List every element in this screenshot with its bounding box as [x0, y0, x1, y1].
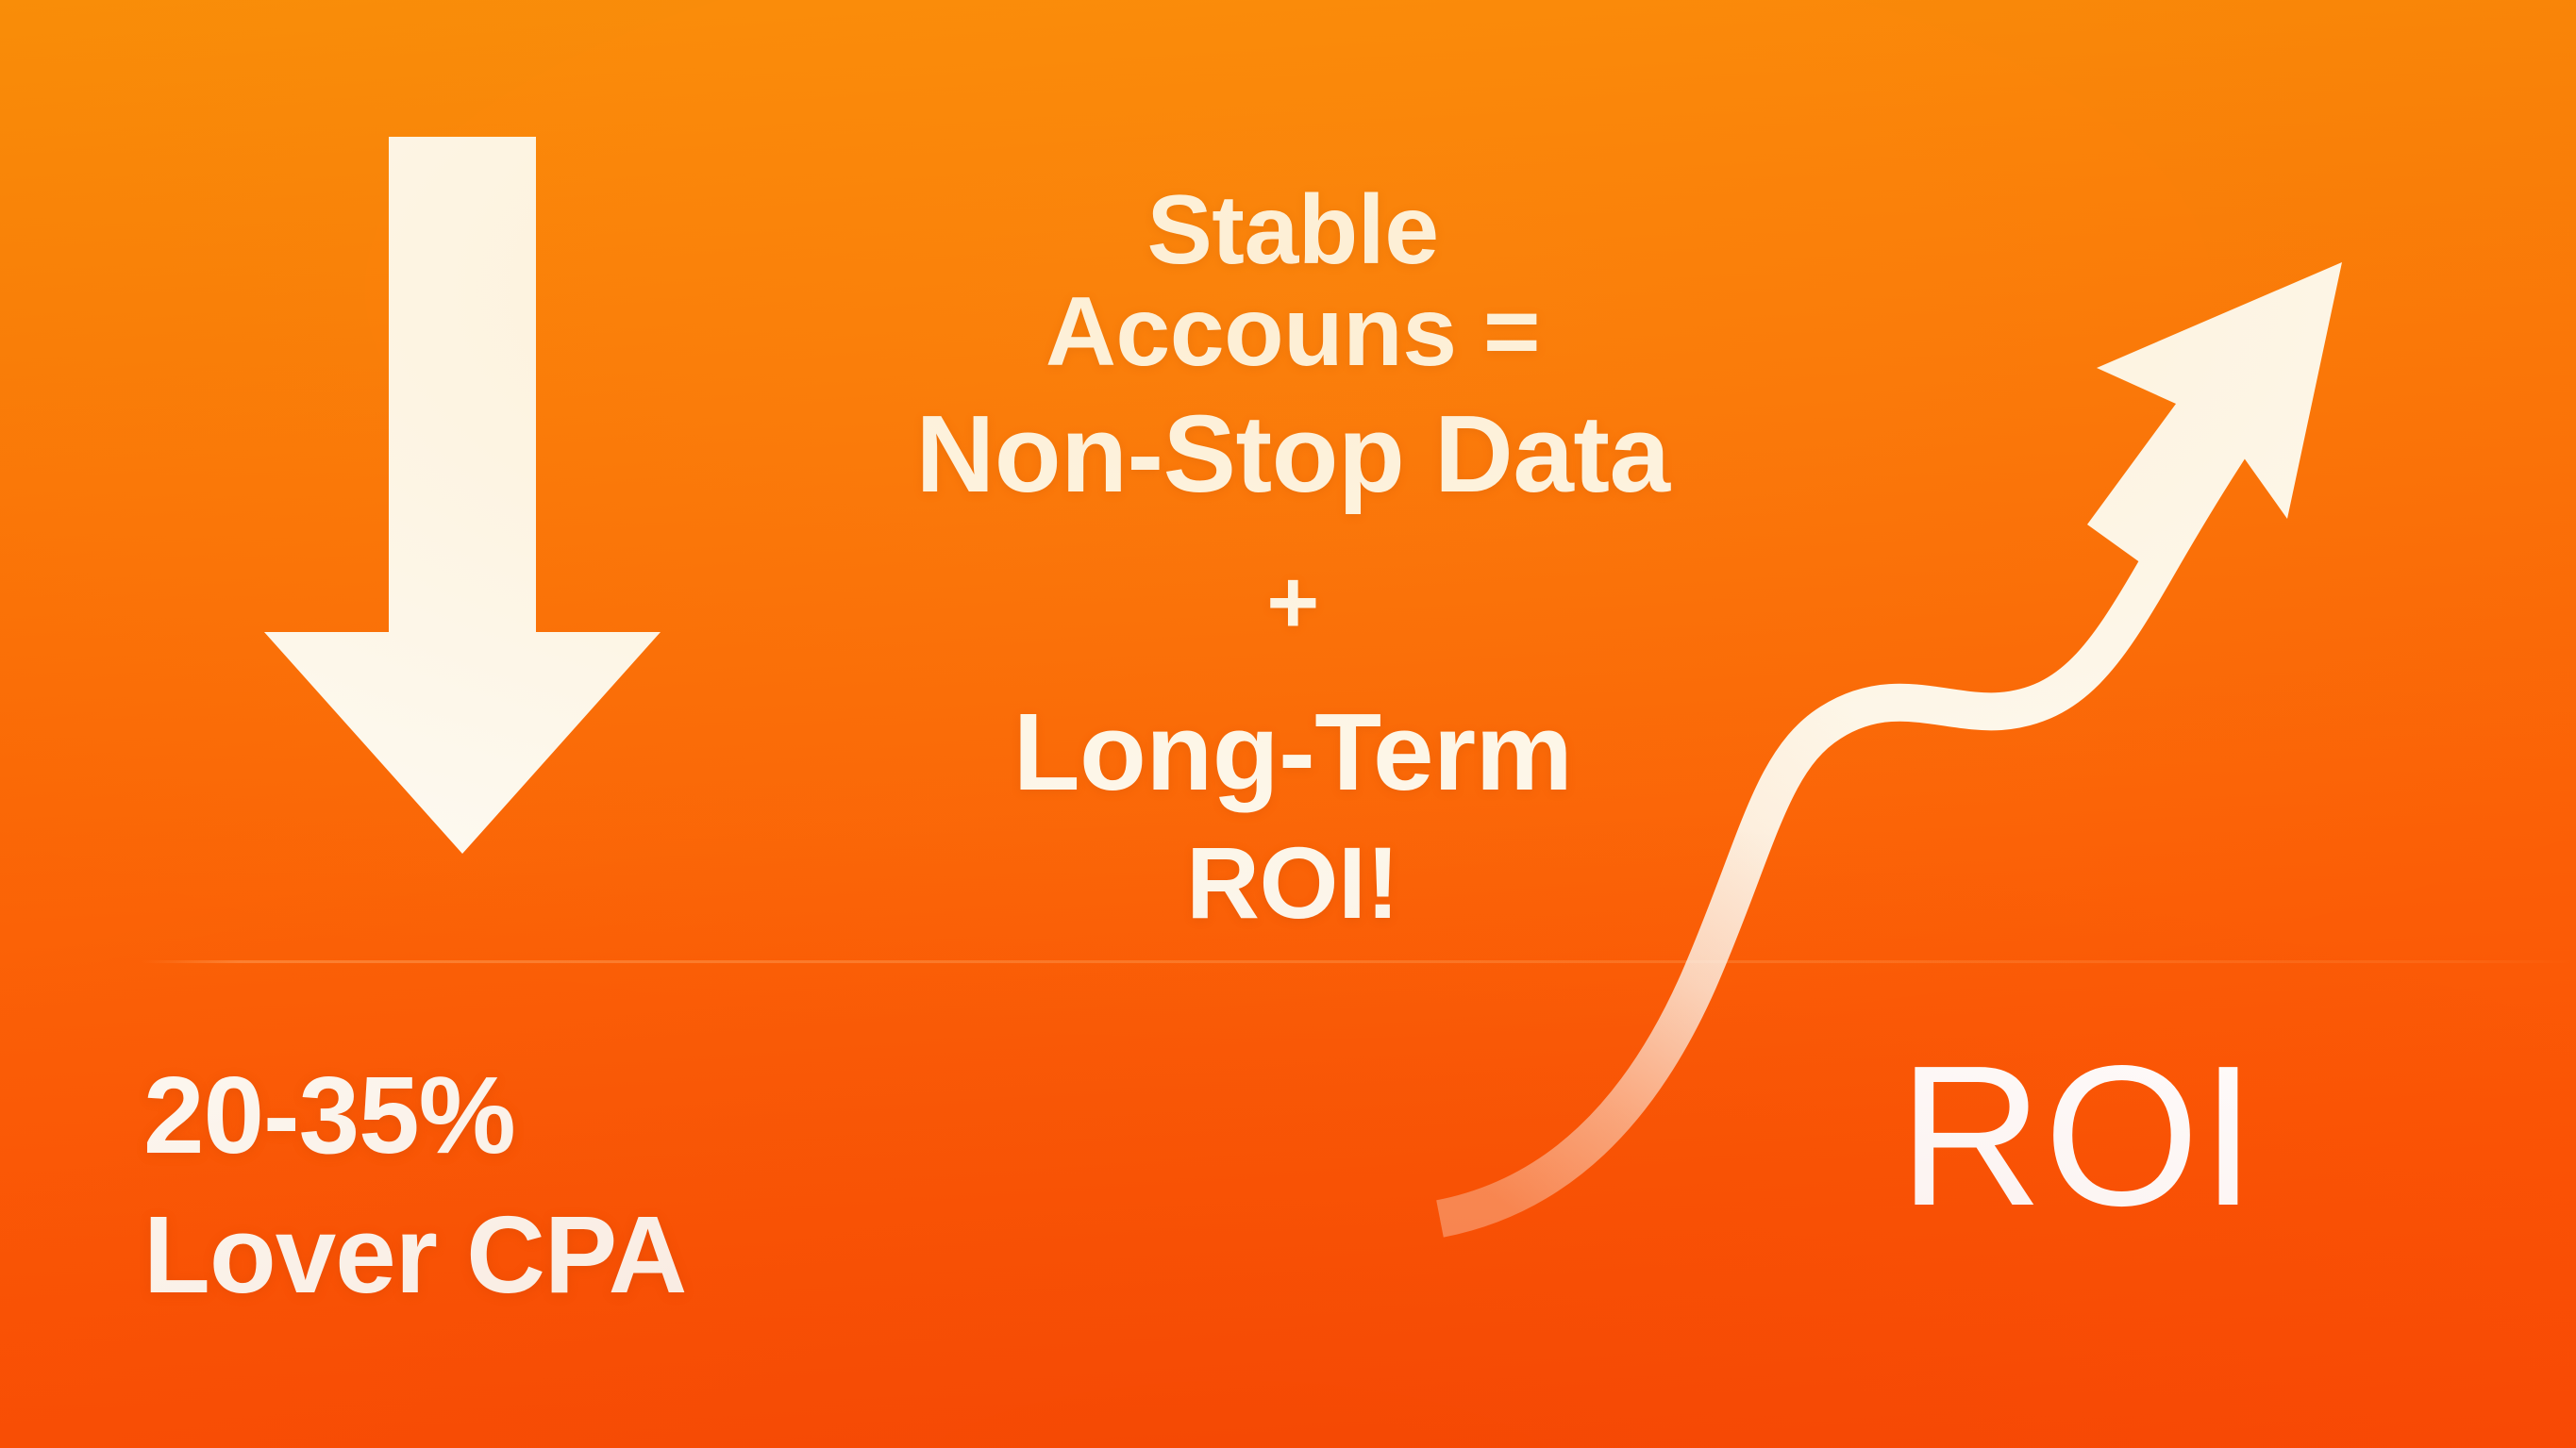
roi-label: ROI: [1899, 1036, 2257, 1236]
down-arrow-graphic: [255, 137, 670, 863]
headline-block: Stable Accouns = Non-Stop Data + Long-Te…: [878, 179, 1708, 940]
headline-line-nonstop: Non-Stop Data: [878, 383, 1708, 525]
arrowhead-icon: [2087, 262, 2342, 568]
headline-line-roi: ROI!: [878, 826, 1708, 940]
cpa-stat-block: 20-35% Lover CPA: [143, 1045, 686, 1325]
poster-canvas: Stable Accouns = Non-Stop Data + Long-Te…: [0, 0, 2576, 1448]
cpa-stat-value: 20-35%: [143, 1045, 686, 1185]
headline-line-plus: +: [878, 525, 1708, 679]
headline-line-longterm: Long-Term: [878, 679, 1708, 825]
cpa-stat-label: Lover CPA: [143, 1185, 686, 1324]
down-arrow-icon: [264, 137, 661, 854]
headline-line-stable: Stable: [878, 179, 1708, 281]
headline-line-accouns: Accouns =: [878, 281, 1708, 383]
